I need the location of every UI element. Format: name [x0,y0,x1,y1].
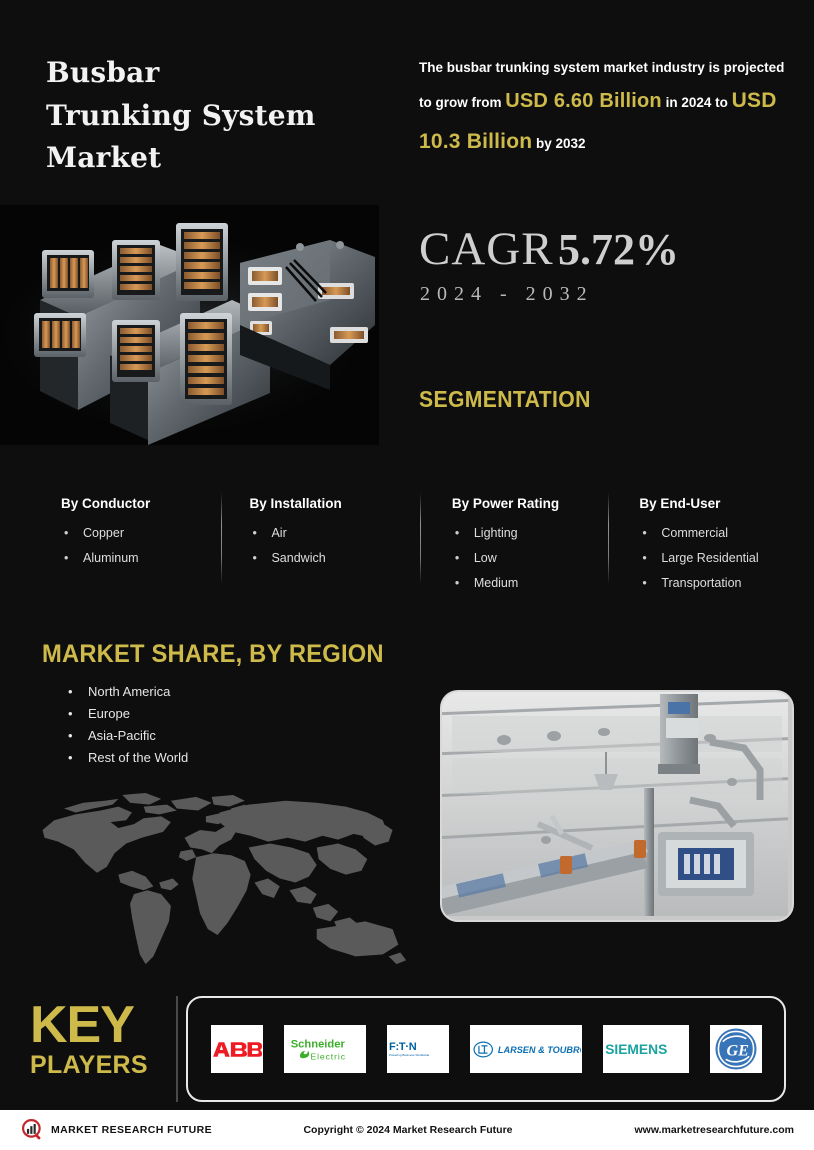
segment-title: By End-User [639,496,786,511]
bullet-icon: • [64,546,68,571]
column-divider [221,492,222,584]
bullet-icon: • [642,546,646,571]
logo-schneider-electric: Schneider Electric [284,1025,366,1073]
page-title: Busbar Trunking System Market [46,52,396,180]
list-item-label: Aluminum [83,551,139,565]
logo-ge: GE [710,1025,762,1073]
summary-part-2: to grow from [419,95,505,110]
list-item: •Transportation [639,571,786,596]
bullet-icon: • [642,521,646,546]
list-item: •Copper [61,521,230,546]
summary-part-4: by 2032 [532,136,585,151]
bullet-icon: • [68,725,73,747]
market-value-2024: USD 6.60 Billion [505,90,662,112]
svg-text:F:T·N: F:T·N [389,1041,417,1053]
cagr-period: 2024 - 2032 [420,283,594,306]
list-item-label: Lighting [474,526,518,540]
key-players-title-top: KEY [30,1000,170,1051]
list-item: •Europe [66,703,188,725]
market-share-heading: MARKET SHARE, BY REGION [42,640,384,669]
segment-list: •Commercial •Large Residential •Transpor… [639,521,786,596]
list-item-label: Copper [83,526,124,540]
list-item-label: Asia-Pacific [88,728,156,743]
eaton-logo-icon: F:T·N Powering Business Worldwide [388,1039,448,1059]
list-item: •Medium [452,571,618,596]
segment-list: •Air •Sandwich [249,521,428,571]
list-item: •North America [66,681,188,703]
svg-text:GE: GE [726,1043,749,1060]
segment-title: By Installation [249,496,428,511]
list-item-label: Rest of the World [88,750,188,765]
key-players-divider [176,996,178,1102]
segmentation-columns: By Conductor •Copper •Aluminum By Instal… [46,496,786,596]
list-item: •Air [249,521,428,546]
list-item-label: Europe [88,706,130,721]
bullet-icon: • [64,521,68,546]
bullet-icon: • [455,571,459,596]
segment-title: By Conductor [61,496,230,511]
ge-logo-icon: GE [714,1027,758,1071]
list-item-label: North America [88,684,170,699]
key-players-title: KEY PLAYERS [30,1000,170,1080]
list-item-label: Large Residential [661,551,758,565]
list-item: •Sandwich [249,546,428,571]
svg-text:SIEMENS: SIEMENS [605,1042,667,1057]
market-research-future-logo-icon [22,1119,44,1141]
list-item-label: Transportation [661,576,741,590]
list-item: •Large Residential [639,546,786,571]
installation-photo [440,690,794,922]
page-title-line-1: Busbar [46,52,396,95]
logo-eaton: F:T·N Powering Business Worldwide [387,1025,449,1073]
abb-logo-icon [212,1040,262,1059]
cagr-value: 5.72% [558,225,679,274]
svg-text:LARSEN & TOUBRO: LARSEN & TOUBRO [497,1045,580,1055]
world-map [22,793,417,968]
bullet-icon: • [252,521,256,546]
installation-illustration [442,692,788,916]
list-item: •Commercial [639,521,786,546]
cagr-block: CAGR 5.72% [419,222,679,276]
footer: MARKET RESEARCH FUTURE Copyright © 2024 … [0,1110,814,1150]
logo-siemens: SIEMENS [603,1025,689,1073]
list-item-label: Low [474,551,497,565]
list-item: •Low [452,546,618,571]
key-players-logos: Schneider Electric F:T·N Powering Busine… [186,996,786,1102]
busbar-illustration [0,205,379,445]
svg-text:Powering Business Worldwide: Powering Business Worldwide [389,1053,430,1057]
key-players-title-bottom: PLAYERS [30,1051,170,1080]
list-item-label: Air [271,526,286,540]
segment-title: By Power Rating [452,496,618,511]
logo-abb [211,1025,263,1073]
page-title-line-2: Trunking System [46,95,396,138]
world-map-icon [22,793,417,968]
segmentation-heading: SEGMENTATION [419,386,591,413]
list-item: •Aluminum [61,546,230,571]
bullet-icon: • [642,571,646,596]
svg-text:Schneider: Schneider [290,1038,345,1050]
segmentation-column-installation: By Installation •Air •Sandwich [230,496,428,596]
segmentation-column-power-rating: By Power Rating •Lighting •Low •Medium [429,496,618,596]
bullet-icon: • [455,546,459,571]
list-item: •Rest of the World [66,747,188,769]
list-item-label: Sandwich [271,551,325,565]
footer-copyright: Copyright © 2024 Market Research Future [272,1124,544,1136]
list-item: •Lighting [452,521,618,546]
schneider-electric-logo-icon: Schneider Electric [285,1035,365,1064]
bullet-icon: • [68,747,73,769]
cagr-label: CAGR [419,223,554,275]
summary-part-3: in 2024 to [662,95,728,110]
list-item-label: Medium [474,576,518,590]
list-item-label: Commercial [661,526,728,540]
segment-list: •Lighting •Low •Medium [452,521,618,596]
page-title-line-3: Market [46,137,396,180]
region-list: •North America •Europe •Asia-Pacific •Re… [66,681,188,769]
bullet-icon: • [455,521,459,546]
logo-larsen-toubro: LARSEN & TOUBRO [470,1025,582,1073]
column-divider [608,492,609,584]
segment-list: •Copper •Aluminum [61,521,230,571]
market-summary-text: The busbar trunking system market indust… [419,55,799,163]
footer-brand-label: MARKET RESEARCH FUTURE [51,1124,212,1136]
bullet-icon: • [68,681,73,703]
footer-url[interactable]: www.marketresearchfuture.com [544,1124,794,1136]
siemens-logo-icon: SIEMENS [604,1040,688,1058]
larsen-toubro-logo-icon: LARSEN & TOUBRO [471,1039,581,1060]
segmentation-column-end-user: By End-User •Commercial •Large Residenti… [617,496,786,596]
infographic-page: Busbar Trunking System Market The busbar… [0,0,814,1150]
summary-part-1: The busbar trunking system market indust… [419,60,784,75]
footer-brand[interactable]: MARKET RESEARCH FUTURE [22,1119,272,1141]
bullet-icon: • [252,546,256,571]
column-divider [420,492,421,584]
list-item: •Asia-Pacific [66,725,188,747]
bullet-icon: • [68,703,73,725]
svg-text:Electric: Electric [310,1051,345,1061]
segmentation-column-conductor: By Conductor •Copper •Aluminum [46,496,230,596]
product-photo [0,205,379,445]
